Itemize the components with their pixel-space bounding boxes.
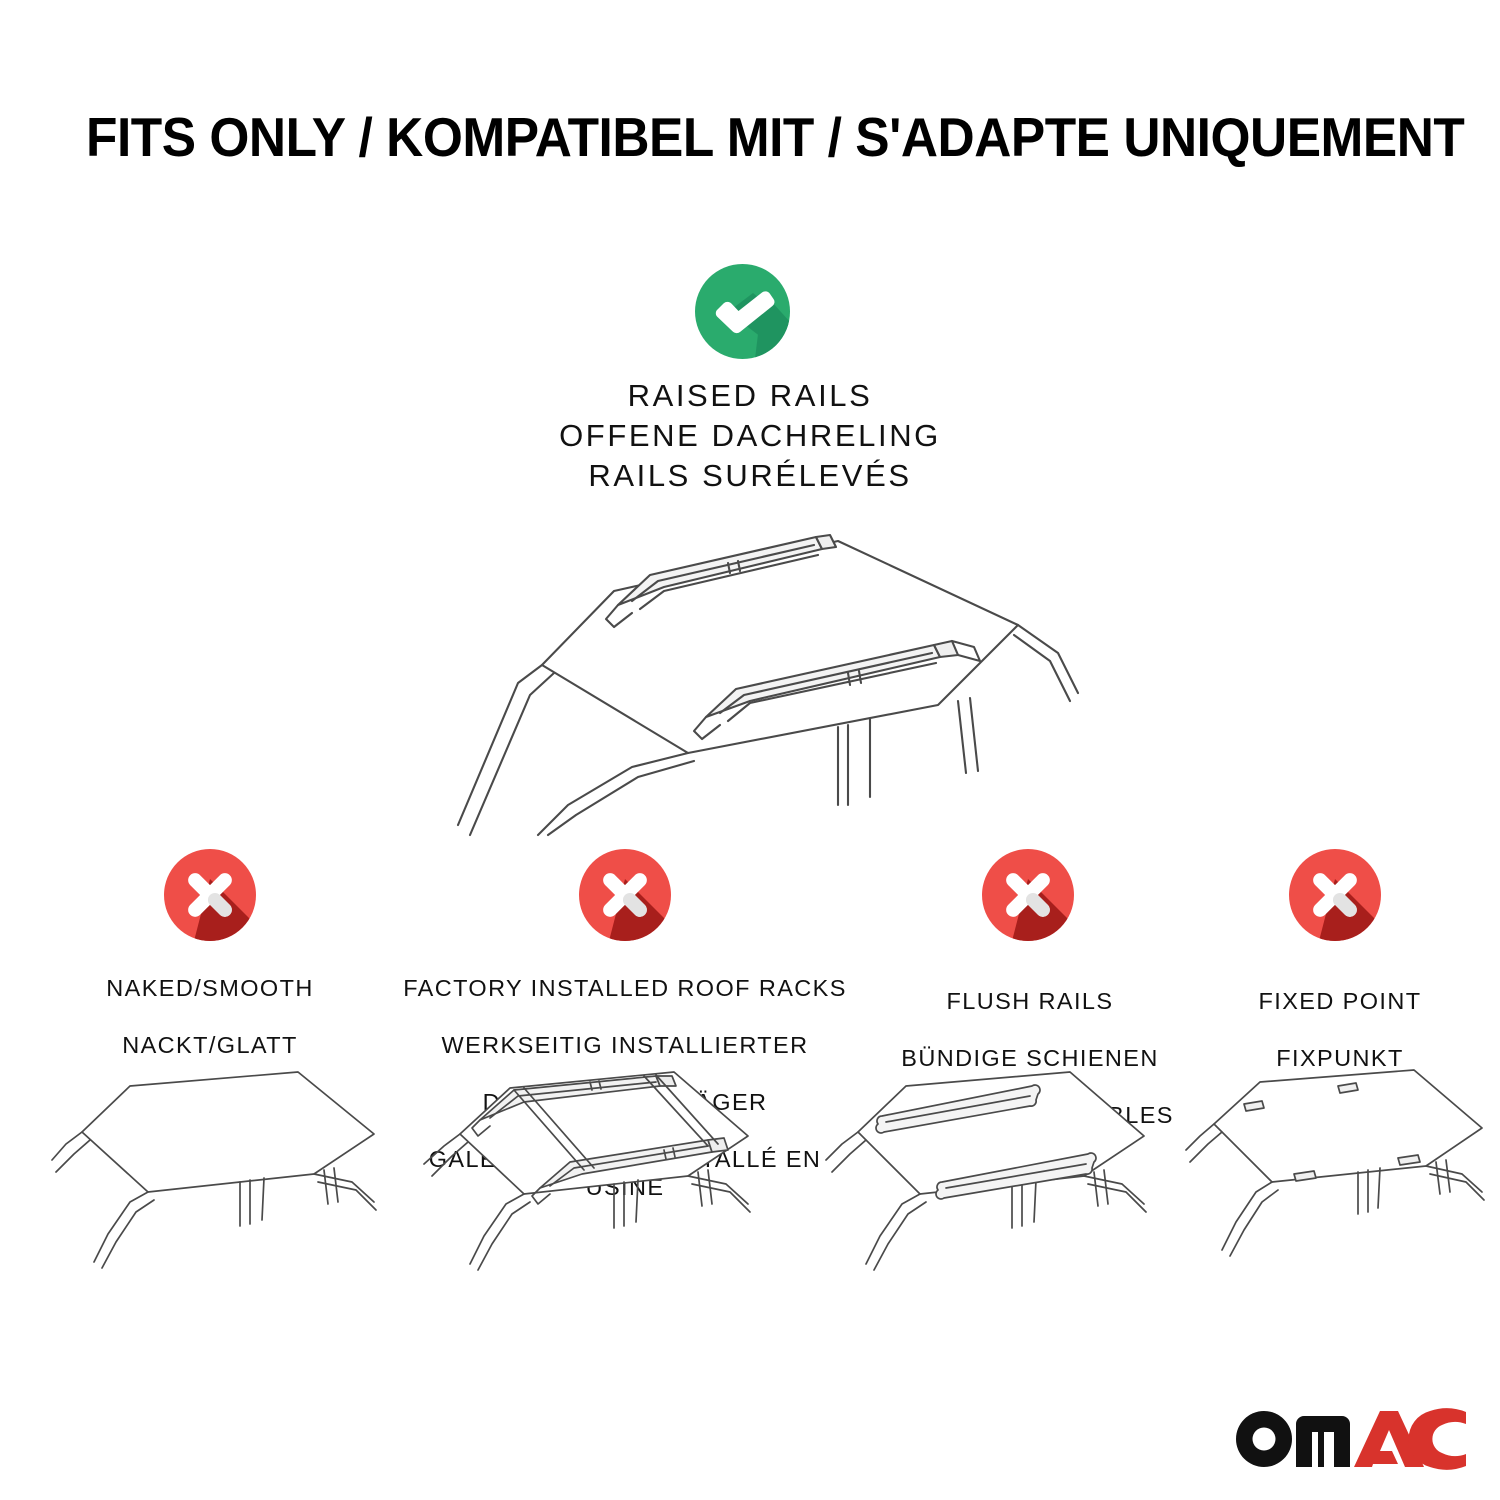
omac-logo (1234, 1410, 1466, 1468)
cross-circle-icon (579, 849, 671, 941)
check-mark (695, 264, 790, 359)
car-roof-naked-smooth-illustration (52, 1062, 408, 1282)
caption-line-en: FIXED POINT (1215, 987, 1465, 1016)
cross-mark (579, 849, 671, 941)
caption-line-en: FACTORY INSTALLED ROOF RACKS (400, 974, 850, 1003)
page-title: FITS ONLY / KOMPATIBEL MIT / S'ADAPTE UN… (86, 106, 1339, 168)
car-roof-fixed-point-illustration (1186, 1062, 1500, 1282)
cross-mark (1289, 849, 1381, 941)
caption-line-de: NACKT/GLATT (30, 1031, 390, 1060)
cross-mark (164, 849, 256, 941)
caption-line-de: OFFENE DACHRELING (380, 416, 1120, 456)
logo-letter-o (1236, 1411, 1292, 1467)
logo-letter-m (1296, 1416, 1350, 1467)
cross-circle-icon (982, 849, 1074, 941)
cross-mark (982, 849, 1074, 941)
caption-line-de-1: WERKSEITIG INSTALLIERTER (400, 1031, 850, 1060)
caption-line-en: FLUSH RAILS (855, 987, 1205, 1016)
fitment-infographic: FITS ONLY / KOMPATIBEL MIT / S'ADAPTE UN… (0, 0, 1500, 1500)
car-roof-flush-rails-illustration (826, 1062, 1172, 1282)
raised-rails-caption: RAISED RAILS OFFENE DACHRELING RAILS SUR… (380, 376, 1120, 496)
caption-line-en: RAISED RAILS (380, 376, 1120, 416)
caption-line-en: NAKED/SMOOTH (30, 974, 390, 1003)
check-circle-icon (695, 264, 790, 359)
cross-circle-icon (1289, 849, 1381, 941)
car-roof-factory-roof-racks-illustration (418, 1062, 784, 1282)
caption-line-fr: RAILS SURÉLEVÉS (380, 456, 1120, 496)
cross-circle-icon (164, 849, 256, 941)
car-roof-with-raised-rails-illustration (418, 505, 1090, 835)
